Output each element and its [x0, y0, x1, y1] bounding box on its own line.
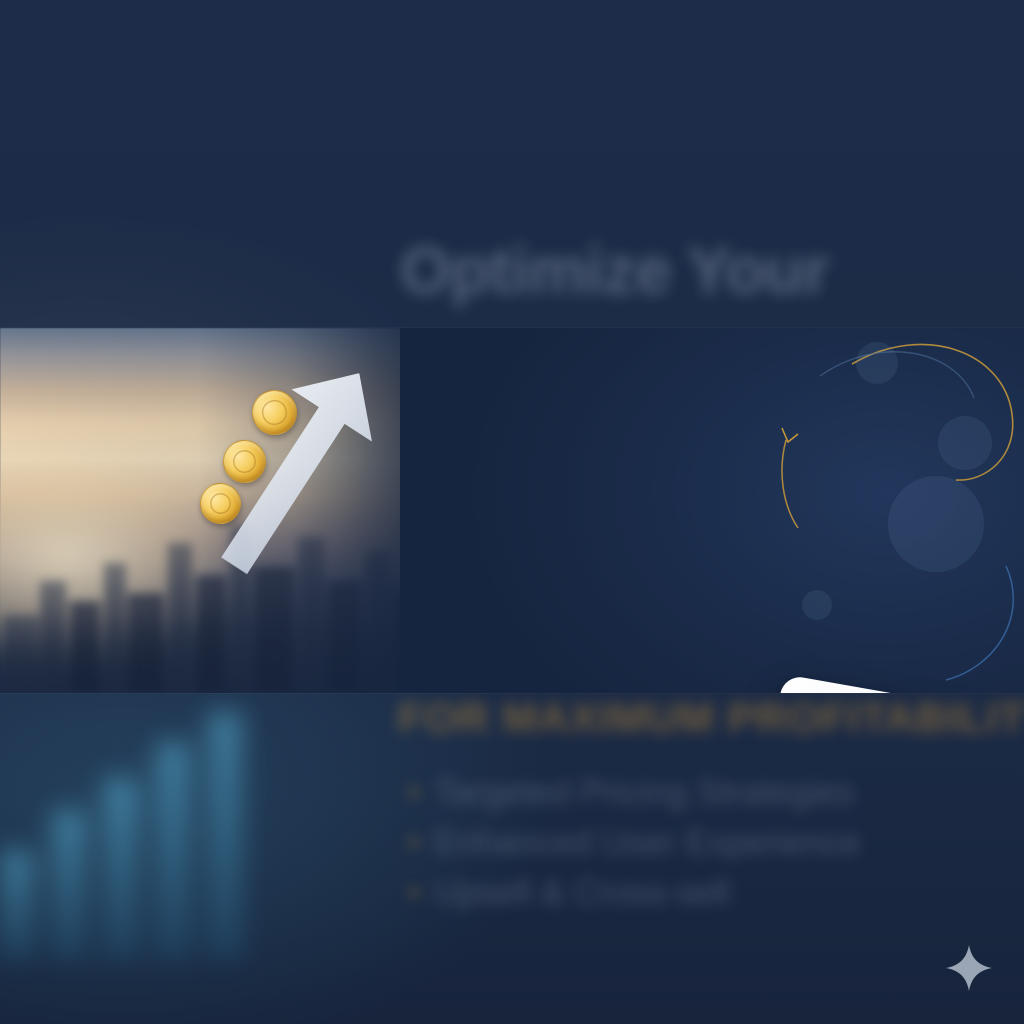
backdrop-ghost-bars — [0, 700, 280, 960]
backdrop-bullet-dot-icon: • — [408, 873, 420, 912]
backdrop-ghost-bullets: •Targeted Pricing Strategies •Enhanced U… — [408, 768, 860, 918]
coin-icon — [218, 435, 270, 487]
backdrop-bullet-dot-icon: • — [408, 773, 420, 812]
navy-panel — [400, 328, 1024, 693]
coin-icon — [246, 384, 303, 441]
backdrop-bullet-dot-icon: • — [408, 823, 420, 862]
poster-canvas: Optimize Your FOR MAXIMUM PROFITABILITY … — [0, 0, 1024, 1024]
backdrop-ghost-headline: Optimize Your — [400, 232, 828, 308]
backdrop-bullet-label: Targeted Pricing Strategies — [434, 773, 854, 812]
backdrop-bullet-label: Upsell & Cross-sell — [434, 873, 730, 912]
backdrop-ghost-subhead: FOR MAXIMUM PROFITABILITY — [398, 694, 1024, 742]
sparkle-icon — [944, 943, 994, 993]
backdrop-bullet-label: Enhanced User Experience — [434, 823, 860, 862]
promo-banner: Optimization Optimize Your Subscription — [0, 328, 1024, 693]
coin-icon — [197, 480, 244, 527]
growth-illustration: Optimization — [0, 328, 470, 693]
